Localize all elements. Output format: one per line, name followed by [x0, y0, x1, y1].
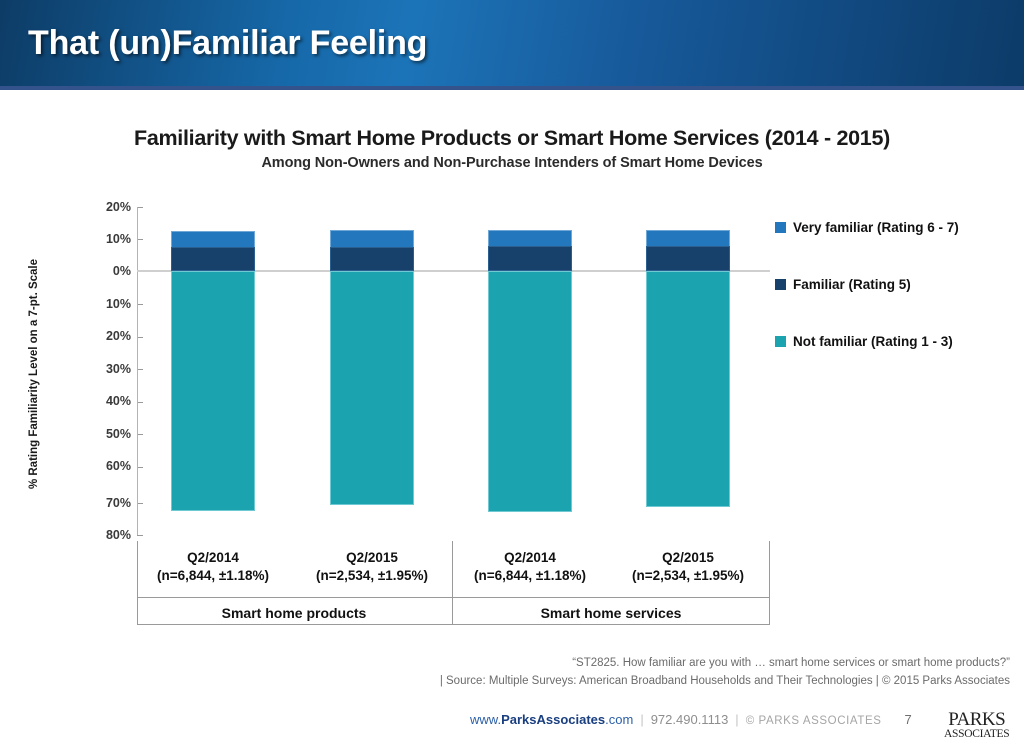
bar-segment-very-familiar [488, 230, 572, 247]
footer-separator-2: | [735, 712, 738, 727]
legend-swatch-icon [775, 336, 786, 347]
chart-plot-area: % Rating Familiarity Level on a 7-pt. Sc… [0, 0, 1024, 741]
legend-label: Familiar (Rating 5) [793, 277, 911, 292]
bar-segment-very-familiar [171, 231, 255, 248]
bar-segment-familiar [171, 247, 255, 271]
group-separator-line [137, 597, 770, 598]
footer-phone: 972.490.1113 [651, 712, 729, 727]
y-tick-label: 10% [85, 233, 131, 246]
x-category-label-1: Q2/2014 (n=6,844, ±1.18%) [133, 549, 293, 585]
bar-segment-very-familiar [330, 230, 414, 248]
source-line: | Source: Multiple Surveys: American Bro… [0, 673, 1010, 691]
y-tick-mark [137, 535, 143, 536]
y-axis-title: % Rating Familiarity Level on a 7-pt. Sc… [28, 209, 40, 539]
source-question: “ST2825. How familiar are you with … sma… [0, 655, 1010, 673]
x-category-label-3: Q2/2014 (n=6,844, ±1.18%) [450, 549, 610, 585]
footer-brand: ParksAssociates [501, 712, 605, 727]
bar-segment-not-familiar [646, 271, 730, 507]
x-category-period: Q2/2014 [133, 549, 293, 567]
bar-segment-familiar [330, 247, 414, 271]
parks-associates-logo: PARKS ASSOCIATES [944, 710, 1009, 741]
y-axis-line [137, 207, 138, 535]
y-tick-label: 40% [85, 395, 131, 408]
footer-www: www. [470, 712, 501, 727]
x-category-label-2: Q2/2015 (n=2,534, ±1.95%) [292, 549, 452, 585]
bar-segment-very-familiar [646, 230, 730, 247]
footer-page-number: 7 [905, 712, 912, 727]
x-category-period: Q2/2014 [450, 549, 610, 567]
y-tick-label: 20% [85, 201, 131, 214]
y-tick-label: 10% [85, 298, 131, 311]
bar-segment-familiar [488, 246, 572, 271]
logo-text-top: PARKS [944, 710, 1009, 729]
category-bottom-line [137, 624, 770, 625]
source-note: “ST2825. How familiar are you with … sma… [0, 655, 1010, 691]
legend-item-very-familiar[interactable]: Very familiar (Rating 6 - 7) [775, 220, 959, 235]
y-tick-label: 70% [85, 497, 131, 510]
legend-swatch-icon [775, 279, 786, 290]
x-category-n: (n=6,844, ±1.18%) [450, 567, 610, 585]
bar-segment-familiar [646, 246, 730, 271]
x-category-period: Q2/2015 [292, 549, 452, 567]
footer-copyright: © PARKS ASSOCIATES [746, 715, 882, 727]
x-category-n: (n=6,844, ±1.18%) [133, 567, 293, 585]
legend-item-not-familiar[interactable]: Not familiar (Rating 1 - 3) [775, 334, 953, 349]
group-label-services: Smart home services [451, 605, 771, 621]
y-tick-label: 20% [85, 330, 131, 343]
bar-segment-not-familiar [330, 271, 414, 505]
x-category-n: (n=2,534, ±1.95%) [608, 567, 768, 585]
y-tick-label: 0% [85, 265, 131, 278]
footer-website-link[interactable]: www.ParksAssociates.com [470, 712, 633, 727]
y-tick-label: 30% [85, 363, 131, 376]
footer-com: .com [605, 712, 633, 727]
legend-item-familiar[interactable]: Familiar (Rating 5) [775, 277, 911, 292]
x-category-period: Q2/2015 [608, 549, 768, 567]
legend-label: Very familiar (Rating 6 - 7) [793, 220, 959, 235]
y-tick-label: 80% [85, 529, 131, 542]
x-category-n: (n=2,534, ±1.95%) [292, 567, 452, 585]
y-tick-label: 50% [85, 428, 131, 441]
footer-separator-1: | [640, 712, 643, 727]
y-tick-label: 60% [85, 460, 131, 473]
x-category-label-4: Q2/2015 (n=2,534, ±1.95%) [608, 549, 768, 585]
logo-text-bottom: ASSOCIATES [944, 729, 1009, 741]
bar-segment-not-familiar [171, 271, 255, 511]
footer-bar: www.ParksAssociates.com | 972.490.1113 |… [0, 712, 1024, 741]
slide-root: That (un)Familiar Feeling Familiarity wi… [0, 0, 1024, 741]
legend-swatch-icon [775, 222, 786, 233]
bar-segment-not-familiar [488, 271, 572, 512]
footer-content: www.ParksAssociates.com | 972.490.1113 |… [470, 712, 912, 727]
legend-label: Not familiar (Rating 1 - 3) [793, 334, 953, 349]
group-label-products: Smart home products [134, 605, 454, 621]
